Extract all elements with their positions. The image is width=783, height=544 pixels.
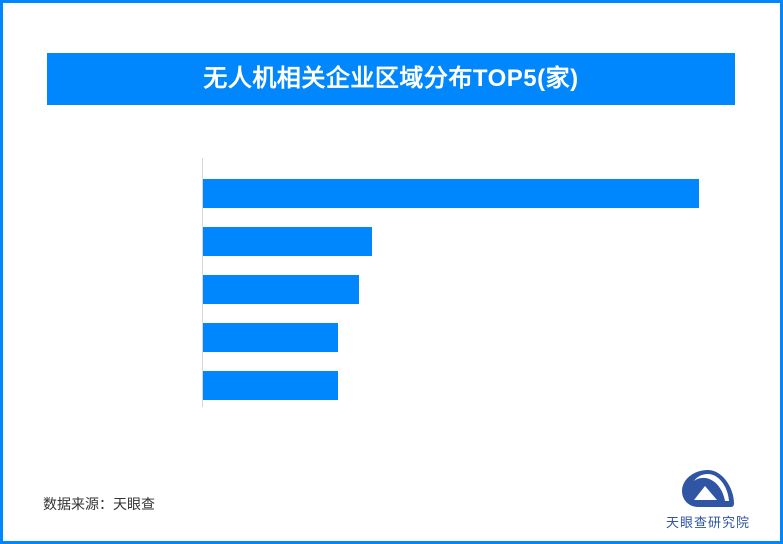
value-axis-line [202, 158, 203, 407]
bar-rect [203, 275, 359, 304]
bar-rect [203, 371, 338, 400]
bar-rect [203, 323, 338, 352]
bar-rect [203, 227, 372, 256]
page-title: 无人机相关企业区域分布TOP5(家) [203, 67, 578, 91]
chart-title-banner: 无人机相关企业区域分布TOP5(家) [47, 53, 735, 105]
tianyancha-arch-eye-logo-icon [681, 469, 735, 509]
brand-logo-text: 天眼查研究院 [666, 512, 750, 531]
chart-canvas: 无人机相关企业区域分布TOP5(家) 广东省安徽省山东省湖南省江苏省 数据来源：… [0, 0, 783, 544]
data-source-label: 数据来源：天眼查 [43, 494, 155, 514]
brand-logo: 天眼查研究院 [653, 469, 763, 537]
bar-rect [203, 179, 699, 208]
